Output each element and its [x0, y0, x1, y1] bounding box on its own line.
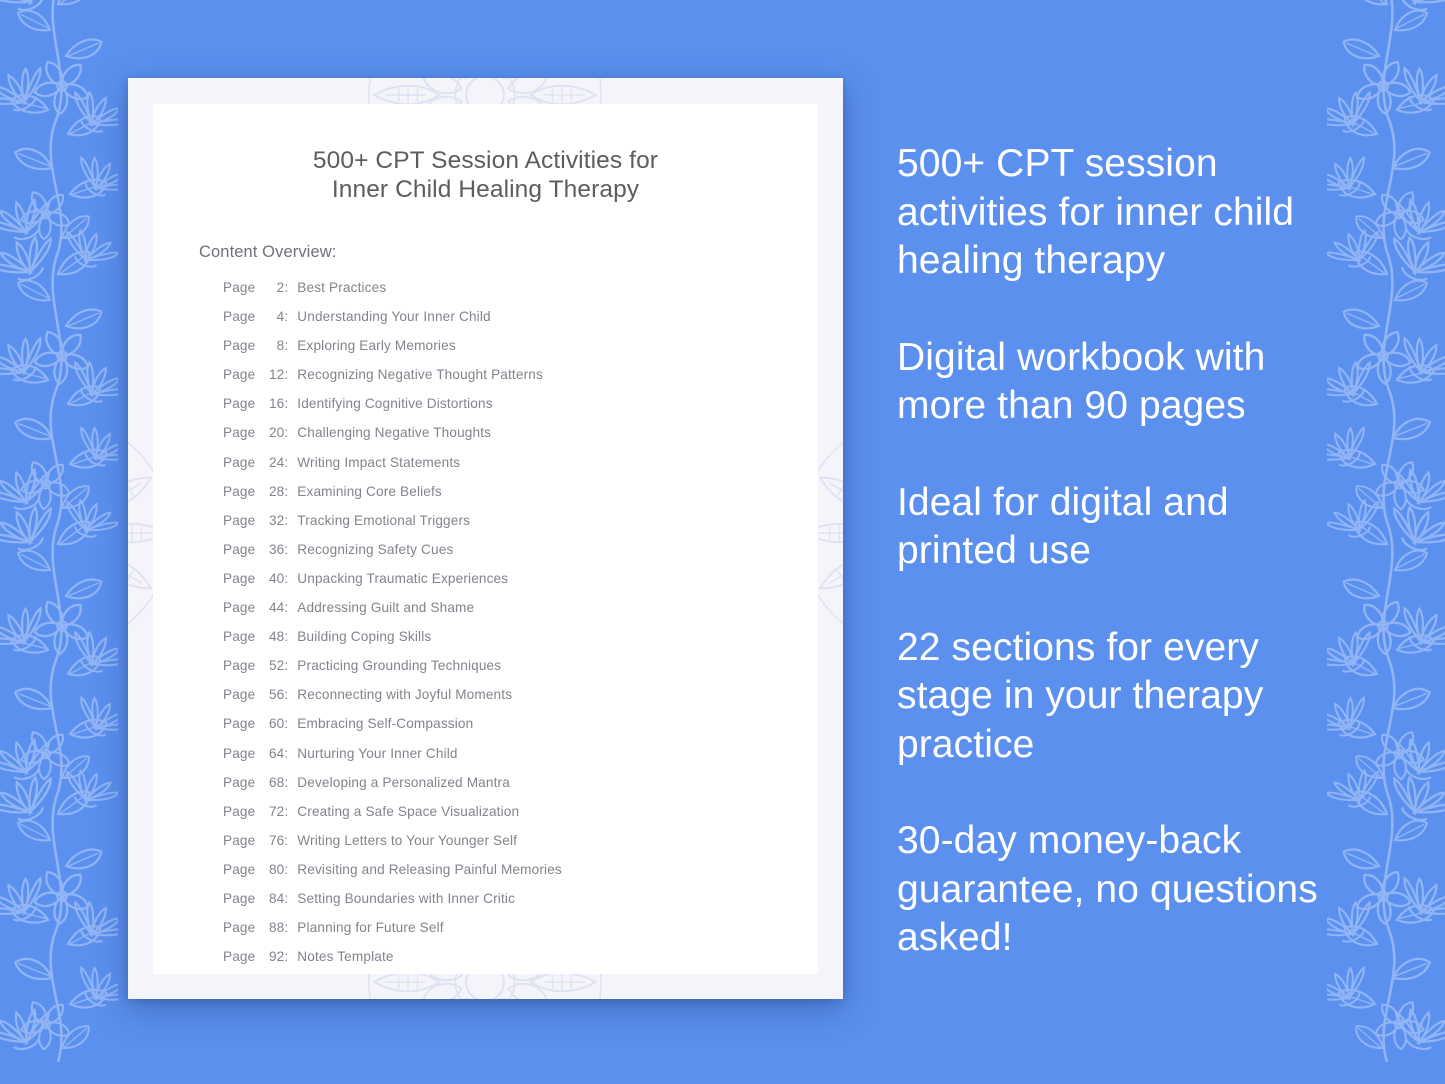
toc-entry-page-number: 92 — [260, 949, 284, 964]
toc-entry: Page40:Unpacking Traumatic Experiences — [223, 571, 800, 600]
toc-entry-page-word: Page — [223, 804, 255, 819]
toc-entry: Page92:Notes Template — [223, 949, 800, 974]
toc-entry-page-number: 48 — [260, 629, 284, 644]
toc-entry-page-word: Page — [223, 338, 255, 353]
toc-entry-title: Nurturing Your Inner Child — [297, 746, 457, 761]
toc-entry: Page24:Writing Impact Statements — [223, 455, 800, 484]
toc-entry-title: Developing a Personalized Mantra — [297, 775, 510, 790]
toc-entry: Page36:Recognizing Safety Cues — [223, 542, 800, 571]
toc-entry-page-number: 36 — [260, 542, 284, 557]
page-title-line-2: Inner Child Healing Therapy — [153, 175, 818, 204]
toc-entry-page-word: Page — [223, 775, 255, 790]
toc-entry-page-word: Page — [223, 746, 255, 761]
toc-entry-page-word: Page — [223, 309, 255, 324]
toc-entry-page-number: 84 — [260, 891, 284, 906]
toc-entry: Page56:Reconnecting with Joyful Moments — [223, 687, 800, 716]
toc-entry-colon: : — [284, 542, 288, 557]
toc-entry: Page8:Exploring Early Memories — [223, 338, 800, 367]
toc-entry-title: Tracking Emotional Triggers — [297, 513, 470, 528]
toc-entry-title: Embracing Self-Compassion — [297, 716, 473, 731]
toc-entry: Page72:Creating a Safe Space Visualizati… — [223, 804, 800, 833]
toc-entry: Page84:Setting Boundaries with Inner Cri… — [223, 891, 800, 920]
workbook-preview-card: 500+ CPT Session Activities for Inner Ch… — [128, 78, 843, 999]
toc-entry-page-number: 28 — [260, 484, 284, 499]
toc-entry-colon: : — [284, 629, 288, 644]
toc-entry-page-number: 88 — [260, 920, 284, 935]
toc-entry-title: Revisiting and Releasing Painful Memorie… — [297, 862, 562, 877]
toc-entry-page-number: 76 — [260, 833, 284, 848]
toc-entry-title: Recognizing Safety Cues — [297, 542, 453, 557]
toc-entry-title: Reconnecting with Joyful Moments — [297, 687, 512, 702]
toc-entry-page-word: Page — [223, 833, 255, 848]
toc-entry-title: Practicing Grounding Techniques — [297, 658, 501, 673]
toc-entry-title: Examining Core Beliefs — [297, 484, 442, 499]
toc-entry-colon: : — [284, 367, 288, 382]
toc-entry-title: Recognizing Negative Thought Patterns — [297, 367, 543, 382]
toc-entry-page-word: Page — [223, 629, 255, 644]
toc-entry: Page16:Identifying Cognitive Distortions — [223, 396, 800, 425]
toc-entry-colon: : — [284, 687, 288, 702]
toc-entry-colon: : — [284, 891, 288, 906]
table-of-contents: Page2:Best PracticesPage4:Understanding … — [223, 280, 800, 974]
toc-entry-page-number: 12 — [260, 367, 284, 382]
page-title-line-1: 500+ CPT Session Activities for — [153, 146, 818, 175]
toc-entry-title: Planning for Future Self — [297, 920, 443, 935]
toc-entry-page-number: 16 — [260, 396, 284, 411]
toc-entry-page-word: Page — [223, 862, 255, 877]
toc-entry-colon: : — [284, 396, 288, 411]
toc-entry: Page28:Examining Core Beliefs — [223, 484, 800, 513]
toc-entry-colon: : — [284, 309, 288, 324]
toc-entry: Page88:Planning for Future Self — [223, 920, 800, 949]
toc-entry-title: Setting Boundaries with Inner Critic — [297, 891, 515, 906]
toc-entry-title: Addressing Guilt and Shame — [297, 600, 474, 615]
promo-graphic: 500+ CPT Session Activities for Inner Ch… — [0, 0, 1445, 1084]
toc-entry-page-word: Page — [223, 396, 255, 411]
toc-entry-colon: : — [284, 833, 288, 848]
toc-entry-title: Building Coping Skills — [297, 629, 431, 644]
toc-entry-page-word: Page — [223, 484, 255, 499]
toc-entry-title: Understanding Your Inner Child — [297, 309, 490, 324]
toc-entry-colon: : — [284, 338, 288, 353]
toc-entry-title: Writing Letters to Your Younger Self — [297, 833, 517, 848]
toc-entry-title: Best Practices — [297, 280, 386, 295]
marketing-bullet: 22 sections for every stage in your ther… — [897, 624, 1349, 770]
toc-entry-page-word: Page — [223, 716, 255, 731]
toc-entry-page-word: Page — [223, 687, 255, 702]
toc-entry-page-word: Page — [223, 513, 255, 528]
toc-entry-page-number: 32 — [260, 513, 284, 528]
page-title: 500+ CPT Session Activities for Inner Ch… — [153, 146, 818, 205]
toc-entry-page-word: Page — [223, 949, 255, 964]
toc-entry-colon: : — [284, 571, 288, 586]
marketing-bullet: 30-day money-back guarantee, no question… — [897, 817, 1349, 963]
toc-entry-colon: : — [284, 775, 288, 790]
toc-entry-page-number: 72 — [260, 804, 284, 819]
marketing-bullet: Ideal for digital and printed use — [897, 479, 1349, 576]
toc-entry-page-number: 40 — [260, 571, 284, 586]
toc-entry-page-word: Page — [223, 425, 255, 440]
toc-entry-page-number: 2 — [260, 280, 284, 295]
toc-entry: Page68:Developing a Personalized Mantra — [223, 775, 800, 804]
toc-entry-title: Challenging Negative Thoughts — [297, 425, 491, 440]
toc-entry: Page52:Practicing Grounding Techniques — [223, 658, 800, 687]
toc-entry-colon: : — [284, 716, 288, 731]
toc-entry-page-word: Page — [223, 542, 255, 557]
toc-entry: Page32:Tracking Emotional Triggers — [223, 513, 800, 542]
toc-entry: Page60:Embracing Self-Compassion — [223, 716, 800, 745]
toc-entry: Page76:Writing Letters to Your Younger S… — [223, 833, 800, 862]
toc-entry-page-word: Page — [223, 658, 255, 673]
toc-entry-title: Notes Template — [297, 949, 393, 964]
toc-entry-page-word: Page — [223, 891, 255, 906]
toc-entry-page-word: Page — [223, 367, 255, 382]
workbook-page: 500+ CPT Session Activities for Inner Ch… — [153, 104, 818, 974]
toc-entry-page-number: 56 — [260, 687, 284, 702]
toc-entry-colon: : — [284, 484, 288, 499]
toc-entry-page-word: Page — [223, 920, 255, 935]
toc-entry-colon: : — [284, 455, 288, 470]
toc-entry-page-number: 4 — [260, 309, 284, 324]
toc-entry: Page20:Challenging Negative Thoughts — [223, 425, 800, 454]
toc-entry-colon: : — [284, 280, 288, 295]
toc-entry-page-word: Page — [223, 600, 255, 615]
toc-entry-title: Writing Impact Statements — [297, 455, 460, 470]
marketing-bullet: 500+ CPT session activities for inner ch… — [897, 140, 1349, 286]
toc-entry: Page80:Revisiting and Releasing Painful … — [223, 862, 800, 891]
marketing-bullets: 500+ CPT session activities for inner ch… — [897, 140, 1349, 963]
toc-entry-page-word: Page — [223, 571, 255, 586]
toc-entry-title: Unpacking Traumatic Experiences — [297, 571, 508, 586]
toc-entry-page-number: 68 — [260, 775, 284, 790]
toc-entry-title: Exploring Early Memories — [297, 338, 455, 353]
toc-entry-page-number: 64 — [260, 746, 284, 761]
toc-entry-colon: : — [284, 513, 288, 528]
toc-entry-colon: : — [284, 804, 288, 819]
toc-entry-title: Identifying Cognitive Distortions — [297, 396, 492, 411]
toc-entry-colon: : — [284, 920, 288, 935]
toc-entry-title: Creating a Safe Space Visualization — [297, 804, 519, 819]
toc-entry: Page2:Best Practices — [223, 280, 800, 309]
toc-entry-colon: : — [284, 949, 288, 964]
toc-entry-colon: : — [284, 746, 288, 761]
toc-entry-colon: : — [284, 600, 288, 615]
toc-entry: Page44:Addressing Guilt and Shame — [223, 600, 800, 629]
toc-entry-page-number: 80 — [260, 862, 284, 877]
toc-entry: Page64:Nurturing Your Inner Child — [223, 746, 800, 775]
toc-entry: Page48:Building Coping Skills — [223, 629, 800, 658]
toc-entry-page-number: 60 — [260, 716, 284, 731]
content-overview-label: Content Overview: — [199, 243, 336, 262]
toc-entry-page-number: 24 — [260, 455, 284, 470]
toc-entry-page-number: 44 — [260, 600, 284, 615]
toc-entry-page-number: 8 — [260, 338, 284, 353]
toc-entry-page-word: Page — [223, 455, 255, 470]
floral-border-left-icon — [0, 0, 118, 1084]
toc-entry: Page12:Recognizing Negative Thought Patt… — [223, 367, 800, 396]
toc-entry-colon: : — [284, 658, 288, 673]
toc-entry-page-number: 52 — [260, 658, 284, 673]
toc-entry-page-number: 20 — [260, 425, 284, 440]
toc-entry: Page4:Understanding Your Inner Child — [223, 309, 800, 338]
toc-entry-colon: : — [284, 425, 288, 440]
toc-entry-colon: : — [284, 862, 288, 877]
toc-entry-page-word: Page — [223, 280, 255, 295]
marketing-bullet: Digital workbook with more than 90 pages — [897, 334, 1349, 431]
